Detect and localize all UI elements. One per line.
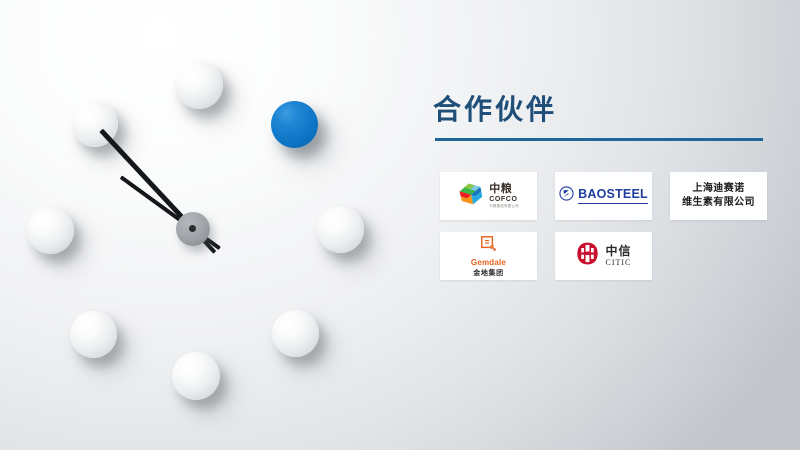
hour-marker-6 <box>172 352 220 400</box>
clock-center-pin <box>189 225 196 232</box>
hour-marker-12 <box>175 61 223 109</box>
desano-name-line1: 上海迪赛诺 <box>682 182 755 197</box>
gemdale-name-en: Gemdale <box>471 259 506 267</box>
slide-canvas: 合作伙伴 <box>0 0 800 450</box>
marker-sphere <box>172 352 220 400</box>
baosteel-name: BAOSTEEL <box>578 188 648 203</box>
citic-name-en: CITIC <box>605 259 631 267</box>
hour-marker-3 <box>317 206 364 253</box>
minute-hand <box>99 128 194 230</box>
marker-sphere-accent <box>271 101 318 148</box>
marker-sphere <box>272 310 319 357</box>
gemdale-name-cn: 金地集团 <box>473 270 503 277</box>
citic-name-cn: 中信 <box>605 245 631 257</box>
partner-card-cofco[interactable]: 中粮 COFCO 中粮集团有限公司 <box>440 172 537 220</box>
baosteel-emblem-icon <box>559 186 574 206</box>
citic-seal-icon <box>575 241 600 271</box>
wall-clock-illustration <box>0 0 400 450</box>
hour-marker-5 <box>272 310 319 357</box>
desano-name-line2: 维生素有限公司 <box>682 196 755 211</box>
cofco-name-cn: 中粮 <box>489 184 512 195</box>
page-title: 合作伙伴 <box>433 96 557 124</box>
marker-sphere <box>317 206 364 253</box>
partner-logo-grid: 中粮 COFCO 中粮集团有限公司 BAOSTEEL <box>440 172 785 280</box>
cofco-cube-icon <box>458 181 484 212</box>
gemdale-square-icon <box>480 235 497 256</box>
partner-card-citic[interactable]: 中信 CITIC <box>555 232 652 280</box>
partner-card-empty-slot <box>670 232 767 280</box>
hour-marker-9 <box>27 207 74 254</box>
cofco-tagline: 中粮集团有限公司 <box>489 205 519 208</box>
partners-panel: 合作伙伴 <box>420 0 800 450</box>
partner-card-gemdale[interactable]: Gemdale 金地集团 <box>440 232 537 280</box>
partner-card-desano[interactable]: 上海迪赛诺 维生素有限公司 <box>670 172 767 220</box>
marker-sphere <box>27 207 74 254</box>
hour-marker-7 <box>70 311 117 358</box>
hour-marker-1 <box>271 101 318 148</box>
partner-card-baosteel[interactable]: BAOSTEEL <box>555 172 652 220</box>
title-underline-rule <box>435 138 763 141</box>
cofco-name-en: COFCO <box>489 196 517 203</box>
marker-sphere <box>70 311 117 358</box>
marker-sphere <box>175 61 223 109</box>
